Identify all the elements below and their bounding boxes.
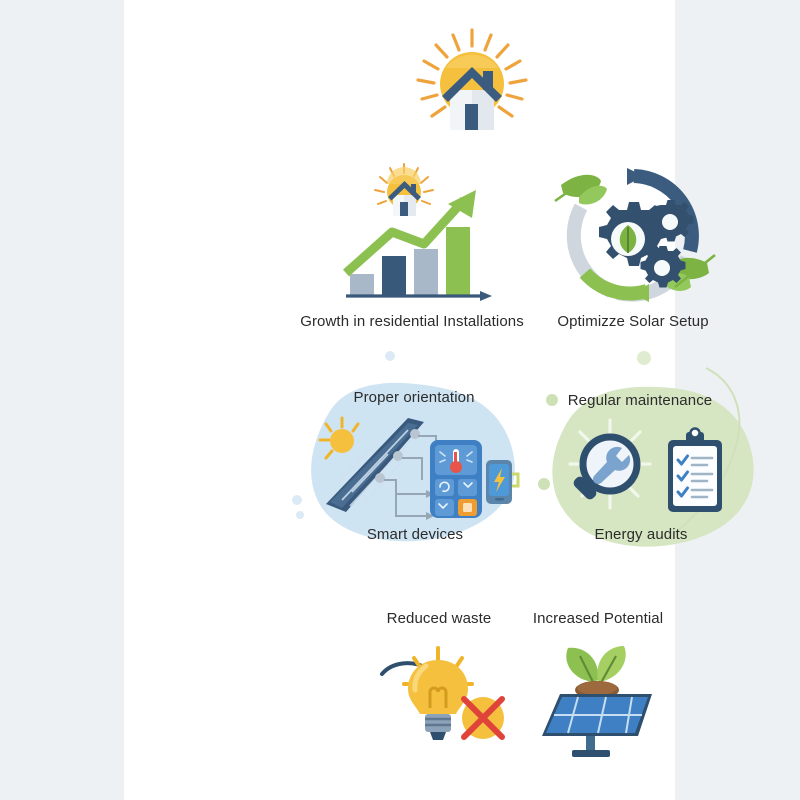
label-growth: Growth in residential Installations — [300, 314, 524, 329]
lightbulb-no-waste-icon — [376, 642, 516, 757]
chart-bar-2 — [382, 256, 406, 295]
leaf-sprig-top-icon — [555, 175, 607, 205]
label-increased-potential: Increased Potential — [533, 611, 663, 626]
solar-panel-icon — [542, 694, 652, 757]
label-orientation: Proper orientation — [353, 390, 474, 405]
screenshot-root: Growth in residential Installations — [0, 0, 800, 800]
gears-leaf-cycle-icon — [549, 163, 719, 309]
chart-axis-arrow-icon — [480, 291, 492, 301]
leaf-left — [566, 648, 598, 682]
blob-dot-icon — [296, 511, 304, 519]
panel-post — [586, 736, 595, 752]
chart-bar-1 — [350, 274, 374, 295]
sun-house-icon — [402, 28, 542, 138]
blob-dot-icon — [546, 394, 558, 406]
label-reduced-waste: Reduced waste — [387, 611, 492, 626]
chart-sun-house-icon — [375, 164, 433, 216]
blob-dot-icon — [385, 351, 395, 361]
solar-panel-sprout-icon — [528, 638, 668, 758]
panel-base — [572, 750, 610, 757]
blob-dot-icon — [637, 351, 651, 365]
growth-chart-icon — [294, 160, 514, 310]
solar-panel-smart-devices-icon — [312, 412, 512, 532]
blob-dot-icon — [292, 495, 302, 505]
infographic-card: Growth in residential Installations — [124, 0, 675, 800]
lightbulb-icon — [408, 660, 468, 740]
label-optimize: Optimizze Solar Setup — [557, 314, 708, 329]
label-energy-audits: Energy audits — [594, 527, 687, 542]
label-smart-devices: Smart devices — [367, 527, 463, 542]
chart-bar-3 — [414, 249, 438, 295]
label-maintenance: Regular maintenance — [568, 393, 713, 408]
clipboard-icon — [668, 429, 722, 513]
smart-thermostat-panel-icon — [430, 440, 482, 518]
magnifier-wrench-clipboard-icon — [564, 418, 734, 530]
no-waste-cross-icon — [462, 697, 504, 739]
small-sun-icon — [320, 418, 358, 458]
sprout-icon — [566, 646, 625, 699]
chart-bar-4 — [446, 227, 470, 295]
blob-dot-icon — [538, 478, 550, 490]
